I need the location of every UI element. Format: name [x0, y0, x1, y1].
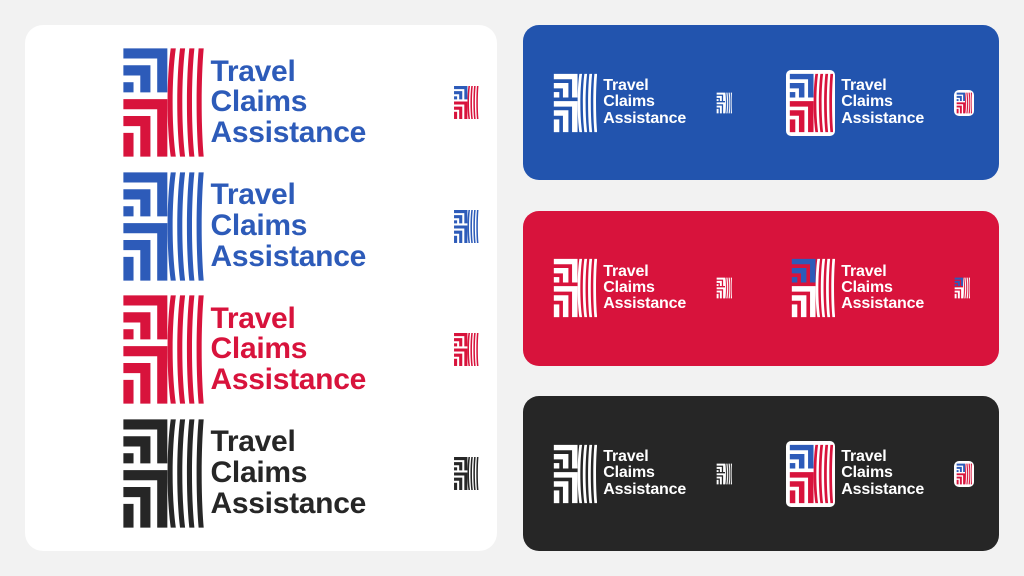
black-panel-left-logo-flag-icon	[552, 443, 598, 505]
icon-red-mono	[453, 332, 479, 367]
icon-blue-mono	[453, 209, 479, 244]
black-panel-right-logo: TravelClaimsAssistance	[786, 441, 924, 507]
blue-panel-right-logo-flag-icon	[788, 72, 834, 134]
blue-panel-right-logo-wordmark-line-2: Claims	[841, 94, 924, 110]
icon-red-mono-flag-icon	[453, 332, 479, 367]
logo-red-mono-wordmark-line-2: Claims	[211, 334, 366, 365]
logo-blue-mono-flag-icon	[120, 169, 205, 284]
logo-black-mono-wordmark-line-3: Assistance	[211, 489, 366, 520]
red-panel-right-logo: TravelClaimsAssistance	[790, 257, 924, 319]
icon-full-color	[453, 85, 479, 120]
blue-panel: TravelClaimsAssistance TravelClaimsAssis…	[523, 25, 999, 180]
logo-red-mono: TravelClaimsAssistance	[120, 292, 366, 407]
blue-panel-right-logo-wordmark-line-1: Travel	[841, 78, 924, 94]
logo-red-mono-flag-icon	[120, 292, 205, 407]
logo-blue-mono-wordmark-line-3: Assistance	[211, 242, 366, 273]
logo-full-color-wordmark: TravelClaimsAssistance	[211, 57, 366, 149]
blue-panel-left-logo-wordmark-line-1: Travel	[603, 78, 686, 94]
red-panel-right-logo-flag-icon	[790, 257, 836, 319]
blue-panel-left-icon	[716, 92, 732, 114]
logo-variant-blue-mono: TravelClaimsAssistance	[25, 169, 497, 284]
logo-variations-card: TravelClaimsAssistance TravelClaimsAssis…	[25, 25, 497, 551]
black-panel-left-icon	[716, 463, 732, 485]
black-panel: TravelClaimsAssistance TravelClaimsAssis…	[523, 396, 999, 551]
red-panel-right-icon	[954, 277, 970, 299]
blue-panel-left-logo-wordmark-line-2: Claims	[603, 94, 686, 110]
logo-variant-full-color: TravelClaimsAssistance	[25, 45, 497, 160]
red-panel-left-logo-flag-icon	[552, 257, 598, 319]
blue-panel-right-logo-wordmark: TravelClaimsAssistance	[841, 78, 924, 127]
red-panel-right-logo-wordmark-line-3: Assistance	[841, 296, 924, 312]
icon-black-mono	[453, 456, 479, 491]
black-panel-right-logo-wordmark-line-3: Assistance	[841, 482, 924, 498]
black-panel-right-logo-white-badge	[786, 441, 836, 507]
red-panel-left-logo-wordmark-line-1: Travel	[603, 264, 686, 280]
icon-black-mono-flag-icon	[453, 456, 479, 491]
black-panel-right-logo-wordmark-line-2: Claims	[841, 465, 924, 481]
red-panel-left-logo-wordmark-line-2: Claims	[603, 280, 686, 296]
logo-blue-mono-wordmark: TravelClaimsAssistance	[211, 180, 366, 272]
black-panel-right-logo-wordmark: TravelClaimsAssistance	[841, 449, 924, 498]
blue-panel-left-logo-flag-icon	[552, 72, 598, 134]
blue-panel-right-logo-white-badge	[786, 70, 836, 136]
logo-variant-red-mono: TravelClaimsAssistance	[25, 292, 497, 407]
black-panel-right-half: TravelClaimsAssistance	[761, 441, 999, 507]
black-panel-left-logo-wordmark: TravelClaimsAssistance	[603, 449, 686, 498]
red-panel-left-logo: TravelClaimsAssistance	[552, 257, 686, 319]
black-panel-left-logo: TravelClaimsAssistance	[552, 443, 686, 505]
red-panel-left-logo-wordmark-line-3: Assistance	[603, 296, 686, 312]
blue-panel-left-icon-flag-icon	[716, 92, 732, 114]
logo-black-mono-flag-icon	[120, 416, 205, 531]
black-panel-left-logo-wordmark-line-1: Travel	[603, 449, 686, 465]
logo-red-mono-wordmark: TravelClaimsAssistance	[211, 304, 366, 396]
blue-panel-left-logo: TravelClaimsAssistance	[552, 72, 686, 134]
logo-blue-mono-wordmark-line-1: Travel	[211, 180, 366, 211]
logo-blue-mono: TravelClaimsAssistance	[120, 169, 366, 284]
red-panel-left-logo-wordmark: TravelClaimsAssistance	[603, 264, 686, 313]
logo-blue-mono-wordmark-line-2: Claims	[211, 211, 366, 242]
black-panel-left-icon-flag-icon	[716, 463, 732, 485]
icon-full-color-flag-icon	[453, 85, 479, 120]
black-panel-left-half: TravelClaimsAssistance	[523, 443, 761, 505]
black-panel-left-logo-wordmark-line-2: Claims	[603, 465, 686, 481]
blue-panel-left-half: TravelClaimsAssistance	[523, 72, 761, 134]
logo-black-mono: TravelClaimsAssistance	[120, 416, 366, 531]
logo-black-mono-wordmark-line-2: Claims	[211, 458, 366, 489]
black-panel-right-icon-white-badge	[954, 461, 974, 487]
logo-black-mono-wordmark: TravelClaimsAssistance	[211, 427, 366, 519]
logo-full-color-wordmark-line-3: Assistance	[211, 118, 366, 149]
red-panel-right-logo-wordmark-line-2: Claims	[841, 280, 924, 296]
icon-blue-mono-flag-icon	[453, 209, 479, 244]
red-panel: TravelClaimsAssistance TravelClaimsAssis…	[523, 211, 999, 366]
black-panel-right-icon-flag-icon	[956, 463, 972, 485]
logo-full-color-wordmark-line-2: Claims	[211, 87, 366, 118]
blue-panel-right-logo: TravelClaimsAssistance	[786, 70, 924, 136]
background-panels-column: TravelClaimsAssistance TravelClaimsAssis…	[523, 25, 999, 551]
red-panel-right-logo-wordmark-line-1: Travel	[841, 264, 924, 280]
logo-red-mono-wordmark-line-3: Assistance	[211, 365, 366, 396]
red-panel-left-icon-flag-icon	[716, 277, 732, 299]
red-panel-left-half: TravelClaimsAssistance	[523, 257, 761, 319]
black-panel-left-logo-wordmark-line-3: Assistance	[603, 482, 686, 498]
black-panel-right-logo-wordmark-line-1: Travel	[841, 449, 924, 465]
red-panel-left-icon	[716, 277, 732, 299]
black-panel-right-logo-flag-icon	[788, 443, 834, 505]
blue-panel-left-logo-wordmark-line-3: Assistance	[603, 111, 686, 127]
logo-full-color: TravelClaimsAssistance	[120, 45, 366, 160]
logo-full-color-flag-icon	[120, 45, 205, 160]
logo-full-color-wordmark-line-1: Travel	[211, 57, 366, 88]
logo-variant-black-mono: TravelClaimsAssistance	[25, 416, 497, 531]
blue-panel-right-half: TravelClaimsAssistance	[761, 70, 999, 136]
red-panel-right-icon-flag-icon	[954, 277, 970, 299]
blue-panel-left-logo-wordmark: TravelClaimsAssistance	[603, 78, 686, 127]
red-panel-right-half: TravelClaimsAssistance	[761, 257, 999, 319]
logo-black-mono-wordmark-line-1: Travel	[211, 427, 366, 458]
blue-panel-right-icon-white-badge	[954, 90, 974, 116]
logo-red-mono-wordmark-line-1: Travel	[211, 304, 366, 335]
red-panel-right-logo-wordmark: TravelClaimsAssistance	[841, 264, 924, 313]
blue-panel-right-logo-wordmark-line-3: Assistance	[841, 111, 924, 127]
blue-panel-right-icon-flag-icon	[956, 92, 972, 114]
